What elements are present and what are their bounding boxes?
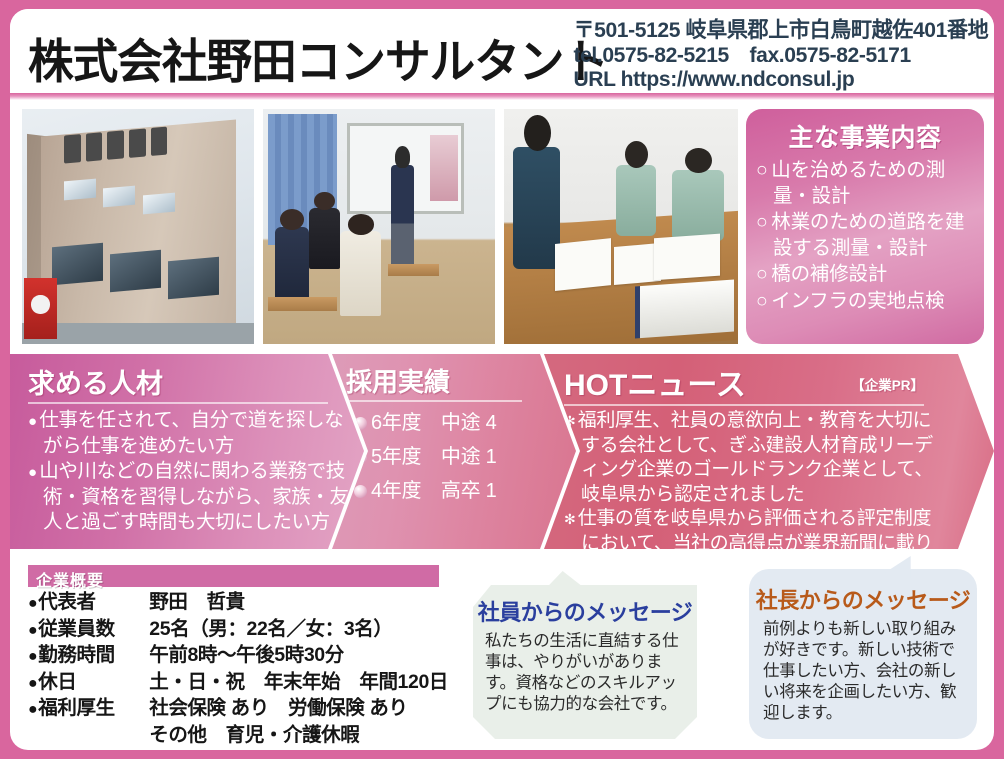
employee-message-title: 社員からのメッセージ [473, 571, 697, 631]
white-sheet: 株式会社野田コンサルタント 〒501-5125 岐阜県郡上市白鳥町越佐401番地… [10, 9, 994, 750]
hiring-row-text: 5年度 中途 1 [371, 446, 496, 468]
table-row: 勤務時間午前8時～午後5時30分 [28, 643, 448, 670]
list-item: 4年度 高卒 1 [354, 480, 576, 502]
employee-message-balloon: 社員からのメッセージ 私たちの生活に直結する仕事は、やりがいがあります。資格など… [473, 571, 697, 739]
hiring-banner: 採用実績 6年度 中途 4 5年度 中途 1 4年度 高卒 1 [332, 354, 576, 549]
profile-value: 野田 哲貴 [149, 590, 448, 617]
president-message-text: 前例よりも新しい取り組みが好きです。新しい技術で仕事したい方、会社の新しい将来を… [763, 619, 965, 724]
list-item: 林業のための道路を建設する測量・設計 [756, 210, 976, 261]
list-item: 山を治めるための測量・設計 [756, 158, 976, 209]
profile-key: 休日 [28, 670, 149, 697]
list-item: 橋の補修設計 [756, 262, 976, 288]
table-row: 短時間勤務制度 [28, 749, 448, 750]
banner-row: 求める人材 仕事を任されて、自分で道を探しながら仕事を進めたい方 山や川などの自… [10, 354, 994, 549]
profile-value: 短時間勤務制度 [149, 749, 448, 750]
table-row: 休日土・日・祝 年末年始 年間120日 [28, 670, 448, 697]
list-item: 山や川などの自然に関わる業務で技術・資格を習得しながら、家族・友人と過ごす時間も… [28, 459, 354, 535]
president-message-balloon: 社長からのメッセージ 前例よりも新しい取り組みが好きです。新しい技術で仕事したい… [749, 569, 977, 739]
hiring-rule [346, 400, 522, 402]
hot-news-banner: HOTニュース 【企業PR】 福利厚生、社員の意欲向上・教育を大切にする会社とし… [544, 354, 994, 549]
business-list: 山を治めるための測量・設計 林業のための道路を建設する測量・設計 橋の補修設計 … [746, 158, 984, 314]
profile-value: 土・日・祝 年末年始 年間120日 [149, 670, 448, 697]
tel-fax: tel.0575-82-5215 fax.0575-82-5171 [573, 43, 988, 68]
photo-office-building [22, 109, 254, 344]
list-item: 6年度 中途 4 [354, 412, 576, 434]
photo-meeting [504, 109, 738, 344]
hiring-title: 採用実績 [332, 354, 576, 399]
talent-banner: 求める人材 仕事を任されて、自分で道を探しながら仕事を進めたい方 山や川などの自… [10, 354, 364, 549]
profile-value: 午前8時～午後5時30分 [149, 643, 448, 670]
table-row: 福利厚生社会保険 あり 労働保険 あり [28, 696, 448, 723]
list-item: インフラの実地点検 [756, 289, 976, 315]
table-row: 代表者野田 哲貴 [28, 590, 448, 617]
header: 株式会社野田コンサルタント 〒501-5125 岐阜県郡上市白鳥町越佐401番地… [10, 9, 994, 93]
employee-message-text: 私たちの生活に直結する仕事は、やりがいがあります。資格などのスキルアップにも協力… [485, 631, 687, 715]
profile-value: 社会保険 あり 労働保険 あり [149, 696, 448, 723]
profile-key: 代表者 [28, 590, 149, 617]
profile-key: 勤務時間 [28, 643, 149, 670]
header-divider [10, 93, 994, 100]
pr-badge: 【企業PR】 [851, 374, 924, 394]
brochure-page: 株式会社野田コンサルタント 〒501-5125 岐阜県郡上市白鳥町越佐401番地… [0, 0, 1004, 759]
company-profile: 企業概要 代表者野田 哲貴 従業員数25名（男：22名／女：3名） 勤務時間午前… [28, 565, 448, 750]
talent-list: 仕事を任されて、自分で道を探しながら仕事を進めたい方 山や川などの自然に関わる業… [10, 408, 364, 535]
list-item: 5年度 中途 1 [354, 446, 576, 468]
profile-value: 25名（男：22名／女：3名） [149, 617, 448, 644]
news-rule [564, 404, 924, 406]
employee-message-body: 私たちの生活に直結する仕事は、やりがいがあります。資格などのスキルアップにも協力… [473, 631, 697, 715]
hiring-row-text: 6年度 中途 4 [371, 412, 496, 434]
page-title: 株式会社野田コンサルタント [28, 23, 608, 92]
talent-rule [28, 402, 328, 404]
talent-title: 求める人材 [10, 354, 364, 401]
table-row: その他 育児・介護休暇 [28, 723, 448, 750]
table-row: 従業員数25名（男：22名／女：3名） [28, 617, 448, 644]
bullet-dot-icon [354, 417, 367, 430]
photo-classroom [263, 109, 495, 344]
profile-value: その他 育児・介護休暇 [149, 723, 448, 750]
profile-table: 代表者野田 哲貴 従業員数25名（男：22名／女：3名） 勤務時間午前8時～午後… [28, 590, 448, 750]
website-url[interactable]: URL https://www.ndconsul.jp [573, 67, 988, 92]
hiring-row-text: 4年度 高卒 1 [371, 480, 496, 502]
postal-address: 〒501-5125 岐阜県郡上市白鳥町越佐401番地 [573, 18, 988, 43]
president-message-title: 社長からのメッセージ [749, 569, 977, 619]
list-item: 福利厚生、社員の意欲向上・教育を大切にする会社として、ぎふ建設人材育成リーディン… [564, 409, 948, 507]
list-item: 仕事を任されて、自分で道を探しながら仕事を進めたい方 [28, 408, 354, 459]
president-message-body: 前例よりも新しい取り組みが好きです。新しい技術で仕事したい方、会社の新しい将来を… [749, 619, 977, 724]
profile-key: 従業員数 [28, 617, 149, 644]
profile-title: 企業概要 [28, 565, 439, 587]
profile-key [28, 723, 149, 750]
photo-strip [22, 109, 738, 344]
hiring-list: 6年度 中途 4 5年度 中途 1 4年度 高卒 1 [332, 412, 576, 502]
profile-key [28, 749, 149, 750]
hot-news-title: HOTニュース [544, 354, 746, 404]
contact-block: 〒501-5125 岐阜県郡上市白鳥町越佐401番地 tel.0575-82-5… [565, 18, 988, 92]
news-list: 福利厚生、社員の意欲向上・教育を大切にする会社として、ぎふ建設人材育成リーディン… [544, 409, 994, 581]
profile-key: 福利厚生 [28, 696, 149, 723]
business-title: 主な事業内容 [746, 109, 984, 158]
bullet-dot-icon [354, 485, 367, 498]
business-content-box: 主な事業内容 山を治めるための測量・設計 林業のための道路を建設する測量・設計 … [746, 109, 984, 344]
